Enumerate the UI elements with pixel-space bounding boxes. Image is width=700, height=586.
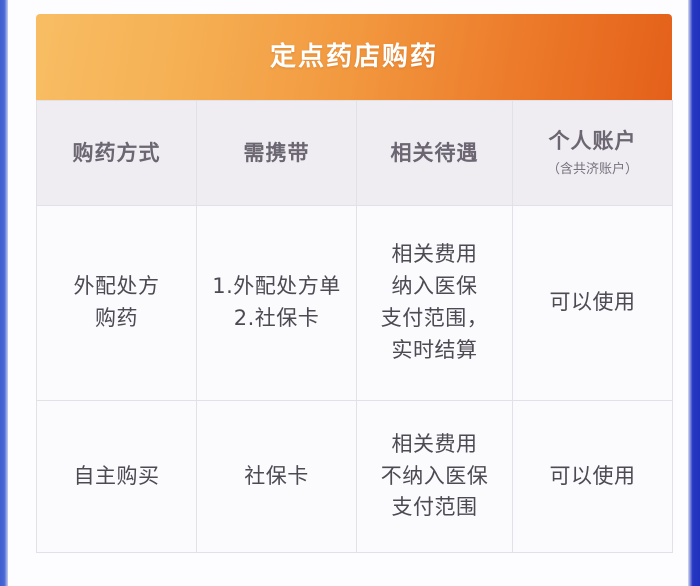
cell-text-line: 支付范围， [361,303,508,335]
column-header-personal-account: 个人账户 （含共济账户） [513,101,673,206]
cell-purchase-method: 自主购买 [37,401,197,553]
cell-text: 社保卡 [201,461,352,493]
cell-purchase-method: 外配处方购药 [37,206,197,401]
cell-text-line: 相关费用 [361,429,508,461]
cell-text-line: 不纳入医保 [361,461,508,493]
cell-text-line: 自主购买 [41,461,192,493]
table-row: 外配处方购药 1.外配处方单2.社保卡 相关费用纳入医保支付范围，实时结算 可以… [37,206,673,401]
table-body: 外配处方购药 1.外配处方单2.社保卡 相关费用纳入医保支付范围，实时结算 可以… [37,206,673,553]
cell-related-benefits: 相关费用不纳入医保支付范围 [357,401,513,553]
cell-personal-account: 可以使用 [513,206,673,401]
cell-text-line: 相关费用 [361,239,508,271]
column-header-label: 相关待遇 [391,141,479,165]
cell-text-line: 实时结算 [361,335,508,367]
cell-text-line: 可以使用 [517,287,668,319]
column-header-label: 购药方式 [73,141,161,165]
cell-personal-account: 可以使用 [513,401,673,553]
cell-text-line: 2.社保卡 [201,303,352,335]
cell-text: 外配处方购药 [41,271,192,335]
cell-text: 自主购买 [41,461,192,493]
cell-text-line: 支付范围 [361,492,508,524]
banner-header: 定点药店购药 [36,14,672,100]
cell-text-line: 外配处方 [41,271,192,303]
cell-text: 可以使用 [517,287,668,319]
pharmacy-purchase-table: 购药方式 需携带 相关待遇 个人账户 （含共济账户） [36,100,673,553]
cell-text: 相关费用不纳入医保支付范围 [361,429,508,525]
cell-text: 1.外配处方单2.社保卡 [201,271,352,335]
page-frame: 定点药店购药 购药方式 需携带 相关待遇 个人账户 [0,0,700,586]
page-title: 定点药店购药 [270,44,438,70]
left-blue-rail [0,0,8,586]
table-header-row: 购药方式 需携带 相关待遇 个人账户 （含共济账户） [37,101,673,206]
column-header-sublabel: （含共济账户） [517,162,668,178]
cell-required-items: 社保卡 [197,401,357,553]
right-blue-rail [688,0,700,586]
cell-text-line: 可以使用 [517,461,668,493]
cell-text-line: 购药 [41,303,192,335]
column-header-required-items: 需携带 [197,101,357,206]
content-card: 定点药店购药 购药方式 需携带 相关待遇 个人账户 [36,14,672,566]
column-header-related-benefits: 相关待遇 [357,101,513,206]
cell-required-items: 1.外配处方单2.社保卡 [197,206,357,401]
column-header-purchase-method: 购药方式 [37,101,197,206]
table-header: 购药方式 需携带 相关待遇 个人账户 （含共济账户） [37,101,673,206]
cell-related-benefits: 相关费用纳入医保支付范围，实时结算 [357,206,513,401]
cell-text-line: 社保卡 [201,461,352,493]
column-header-label: 需携带 [244,141,310,165]
cell-text: 可以使用 [517,461,668,493]
cell-text: 相关费用纳入医保支付范围，实时结算 [361,239,508,367]
table-row: 自主购买 社保卡 相关费用不纳入医保支付范围 可以使用 [37,401,673,553]
cell-text-line: 1.外配处方单 [201,271,352,303]
column-header-label: 个人账户 [549,129,637,153]
cell-text-line: 纳入医保 [361,271,508,303]
